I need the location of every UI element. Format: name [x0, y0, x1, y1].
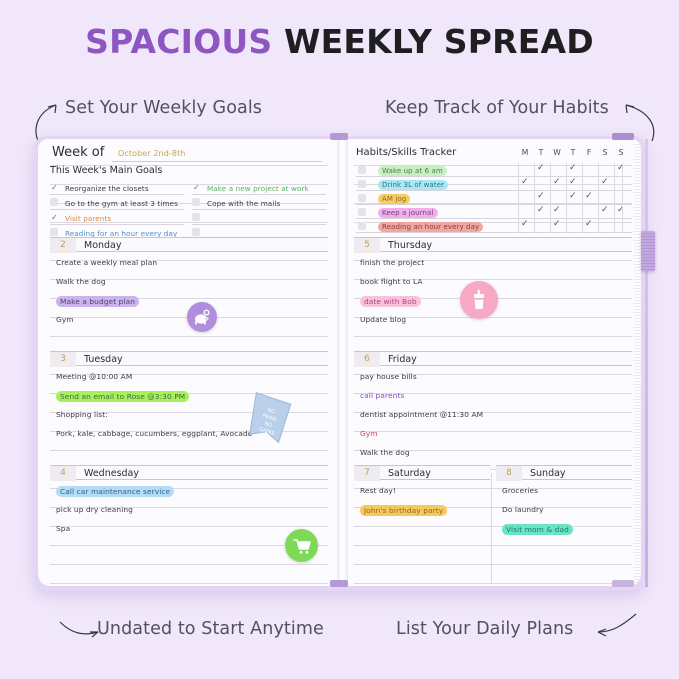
callout-track-habits: Keep Track of Your Habits [385, 98, 609, 118]
tracker-cell[interactable] [534, 177, 548, 191]
binding-clip-bottom [330, 580, 348, 587]
day-header-wednesday: 4Wednesday [50, 465, 328, 480]
tracker-cell[interactable] [598, 191, 612, 205]
habit-label: Reading an hour every day [378, 222, 483, 232]
day-header-monday: 2Monday [50, 237, 328, 252]
goal-text: Reorganize the closets [65, 184, 149, 193]
planner-book: Week of October 2nd-8th This Week's Main… [34, 136, 645, 591]
day-task[interactable]: date with Bob [360, 296, 421, 307]
day-task[interactable]: Visit mom & dad [502, 524, 573, 535]
goal-row[interactable]: Go to the gym at least 3 times [50, 195, 184, 210]
tracker-cell[interactable]: ✓ [566, 177, 580, 191]
tracker-day-header: S [598, 148, 612, 157]
check-icon: ✓ [537, 164, 545, 173]
goal-checkbox[interactable]: ✓ [192, 183, 200, 191]
tracker-row[interactable]: Drink 3L of water✓✓✓✓ [356, 177, 632, 191]
check-icon: ✓ [193, 184, 200, 192]
tracker-cell[interactable] [518, 191, 532, 205]
left-page: Week of October 2nd-8th This Week's Main… [42, 139, 339, 586]
day-number: 5 [354, 238, 380, 253]
goal-checkbox[interactable]: ✓ [50, 213, 58, 221]
day-task[interactable]: call parents [360, 391, 404, 400]
tracker-cell[interactable]: ✓ [534, 205, 548, 219]
tracker-day-header: S [614, 148, 628, 157]
tracker-cell[interactable] [598, 219, 612, 233]
sticker-no-pains-no-gains: NO PAINS NO GAINS [242, 390, 296, 450]
check-icon: ✓ [601, 206, 609, 215]
tracker-cell[interactable]: ✓ [550, 219, 564, 233]
habit-label: AM jog [378, 194, 410, 204]
elastic-band-loop [641, 231, 655, 271]
sticker-piggy-bank [187, 302, 217, 332]
goal-row[interactable]: ✓Make a new project at work [192, 180, 326, 195]
day-number: 2 [50, 238, 76, 253]
check-icon: ✓ [553, 206, 561, 215]
day-task[interactable]: Gym [56, 315, 74, 324]
day-task[interactable]: Shopping list: [56, 410, 108, 419]
callout-set-weekly-goals: Set Your Weekly Goals [65, 98, 262, 118]
check-icon: ✓ [521, 178, 529, 187]
goal-text: Make a new project at work [207, 184, 309, 193]
tracker-cell[interactable] [550, 191, 564, 205]
tracker-row[interactable]: AM jog✓✓✓ [356, 191, 632, 205]
day-name: Saturday [388, 466, 431, 481]
binding-clip-top [330, 133, 348, 140]
day-number: 6 [354, 352, 380, 367]
day-name: Tuesday [84, 352, 123, 367]
day-name: Wednesday [84, 466, 139, 481]
day-task[interactable]: Spa [56, 524, 70, 533]
day-task[interactable]: Gym [360, 429, 378, 438]
day-task[interactable]: book flight to LA [360, 277, 423, 286]
goal-checkbox[interactable]: ✓ [50, 183, 58, 191]
goal-checkbox[interactable] [50, 198, 58, 206]
tracker-cell[interactable]: ✓ [550, 205, 564, 219]
day-task[interactable]: Pork, kale, cabbage, cucumbers, eggplant… [56, 429, 252, 438]
tracker-cell[interactable]: ✓ [582, 219, 596, 233]
tracker-cell[interactable] [518, 163, 532, 177]
tracker-cell[interactable] [534, 219, 548, 233]
day-number: 8 [496, 466, 522, 481]
check-icon: ✓ [569, 178, 577, 187]
day-task[interactable]: Walk the dog [360, 448, 410, 457]
tracker-day-header: T [534, 148, 548, 157]
habit-checkbox[interactable] [358, 194, 366, 202]
tracker-cell[interactable]: ✓ [518, 177, 532, 191]
day-name: Monday [84, 238, 122, 253]
drink-cup-icon [469, 288, 489, 312]
day-task[interactable]: John's birthday party [360, 505, 447, 516]
check-icon: ✓ [537, 192, 545, 201]
habit-checkbox[interactable] [358, 180, 366, 188]
check-icon: ✓ [537, 206, 545, 215]
tracker-cell[interactable] [566, 219, 580, 233]
day-header-tuesday: 3Tuesday [50, 351, 328, 366]
habit-checkbox[interactable] [358, 208, 366, 216]
right-page: Habits/Skills Tracker MTWTFSS Wake up at… [348, 139, 641, 586]
goal-checkbox[interactable] [192, 228, 200, 236]
day-task[interactable]: Update blog [360, 315, 406, 324]
check-icon: ✓ [569, 192, 577, 201]
day-number: 4 [50, 466, 76, 481]
binding-clip-bottom-right [612, 580, 634, 587]
tracker-cell[interactable]: ✓ [582, 191, 596, 205]
shopping-cart-icon [292, 537, 312, 555]
goal-row[interactable]: ✓Visit parents [50, 210, 184, 225]
goal-checkbox[interactable] [192, 213, 200, 221]
day-task[interactable]: Groceries [502, 486, 538, 495]
check-icon: ✓ [521, 220, 529, 229]
habit-checkbox[interactable] [358, 222, 366, 230]
day-header-friday: 6Friday [354, 351, 632, 366]
arrow-bottom-right-icon [578, 608, 638, 640]
day-task[interactable]: pick up dry cleaning [56, 505, 133, 514]
goal-checkbox[interactable] [192, 198, 200, 206]
tracker-cell[interactable]: ✓ [566, 163, 580, 177]
goal-text: Cope with the mails [207, 199, 280, 208]
day-header-thursday: 5Thursday [354, 237, 632, 252]
tracker-cell[interactable]: ✓ [534, 163, 548, 177]
goal-row[interactable]: Cope with the mails [192, 195, 326, 210]
tracker-cell[interactable]: ✓ [598, 205, 612, 219]
tracker-cell[interactable]: ✓ [598, 177, 612, 191]
tracker-cell[interactable] [582, 177, 596, 191]
page-title: SPACIOUS WEEKLY SPREAD [0, 22, 679, 61]
check-icon: ✓ [585, 192, 593, 201]
tracker-cell[interactable] [550, 163, 564, 177]
tracker-row[interactable]: Keep a journal✓✓✓✓ [356, 205, 632, 219]
goal-text: Go to the gym at least 3 times [65, 199, 178, 208]
habit-label: Drink 3L of water [378, 180, 448, 190]
callout-undated: Undated to Start Anytime [97, 619, 324, 639]
check-icon: ✓ [585, 220, 593, 229]
goal-checkbox[interactable] [50, 228, 58, 236]
piggy-bank-icon [193, 308, 211, 326]
tracker-cell[interactable] [598, 163, 612, 177]
goal-row[interactable]: ✓Reorganize the closets [50, 180, 184, 195]
tracker-day-header: F [582, 148, 596, 157]
binding-clip-top-right [612, 133, 634, 140]
week-of-label: Week of [52, 145, 104, 160]
habit-checkbox[interactable] [358, 166, 366, 174]
tracker-day-header: M [518, 148, 532, 157]
day-task[interactable]: Create a weekly meal plan [56, 258, 157, 267]
goals-heading: This Week's Main Goals [50, 165, 162, 176]
goal-text: Visit parents [65, 214, 111, 223]
tracker-grid-edge [622, 163, 636, 233]
day-task[interactable]: dentist appointment @11:30 AM [360, 410, 483, 419]
title-rest: WEEKLY SPREAD [284, 22, 594, 61]
day-task[interactable]: Meeting @10:00 AM [56, 372, 132, 381]
sticker-shopping-cart [285, 529, 318, 562]
tracker-cell[interactable] [566, 205, 580, 219]
weekend-divider [491, 473, 492, 583]
title-highlight: SPACIOUS [85, 22, 272, 61]
check-icon: ✓ [51, 214, 58, 222]
day-name: Friday [388, 352, 417, 367]
week-of-value[interactable]: October 2nd-8th [118, 149, 185, 158]
check-icon: ✓ [569, 164, 577, 173]
tracker-day-header: T [566, 148, 580, 157]
day-header-saturday: 7Saturday [354, 465, 490, 480]
elastic-band-strap [645, 139, 648, 587]
day-number: 3 [50, 352, 76, 367]
tracker-row[interactable]: Reading an hour every day✓✓✓ [356, 219, 632, 233]
check-icon: ✓ [553, 178, 561, 187]
goal-row[interactable] [192, 210, 326, 225]
day-task[interactable]: Call car maintenance service [56, 486, 174, 497]
tracker-day-header: W [550, 148, 564, 157]
habit-label: Wake up at 6 am [378, 166, 447, 176]
tracker-cell[interactable]: ✓ [550, 177, 564, 191]
day-task[interactable]: Do laundry [502, 505, 544, 514]
sticker-drink-cup [460, 281, 498, 319]
day-name: Sunday [530, 466, 566, 481]
planner-promo-image: SPACIOUS WEEKLY SPREAD Set Your Weekly G… [0, 0, 679, 679]
arrow-bottom-left-icon [58, 612, 102, 642]
day-task[interactable]: pay house bills [360, 372, 417, 381]
right-page-content: Habits/Skills Tracker MTWTFSS Wake up at… [348, 139, 641, 586]
tracker-heading: Habits/Skills Tracker [356, 147, 456, 158]
tracker-cell[interactable]: ✓ [566, 191, 580, 205]
callout-daily-plans: List Your Daily Plans [396, 619, 573, 639]
planner-pages: Week of October 2nd-8th This Week's Main… [38, 139, 641, 586]
day-task[interactable]: finish the project [360, 258, 424, 267]
check-icon: ✓ [51, 184, 58, 192]
day-task[interactable]: Walk the dog [56, 277, 106, 286]
check-icon: ✓ [601, 178, 609, 187]
tracker-cell[interactable]: ✓ [518, 219, 532, 233]
day-header-sunday: 8Sunday [496, 465, 632, 480]
tracker-cell[interactable]: ✓ [534, 191, 548, 205]
day-task[interactable]: Rest day! [360, 486, 396, 495]
day-name: Thursday [388, 238, 432, 253]
week-of-underline [112, 161, 322, 162]
tracker-cell[interactable] [582, 163, 596, 177]
day-task[interactable]: Make a budget plan [56, 296, 139, 307]
day-number: 7 [354, 466, 380, 481]
check-icon: ✓ [553, 220, 561, 229]
habit-label: Keep a journal [378, 208, 438, 218]
day-task[interactable]: Send an email to Rose @3:30 PM [56, 391, 189, 402]
tracker-row[interactable]: Wake up at 6 am✓✓✓ [356, 163, 632, 177]
tracker-cell[interactable] [518, 205, 532, 219]
tracker-cell[interactable] [582, 205, 596, 219]
left-page-content: Week of October 2nd-8th This Week's Main… [42, 139, 339, 586]
